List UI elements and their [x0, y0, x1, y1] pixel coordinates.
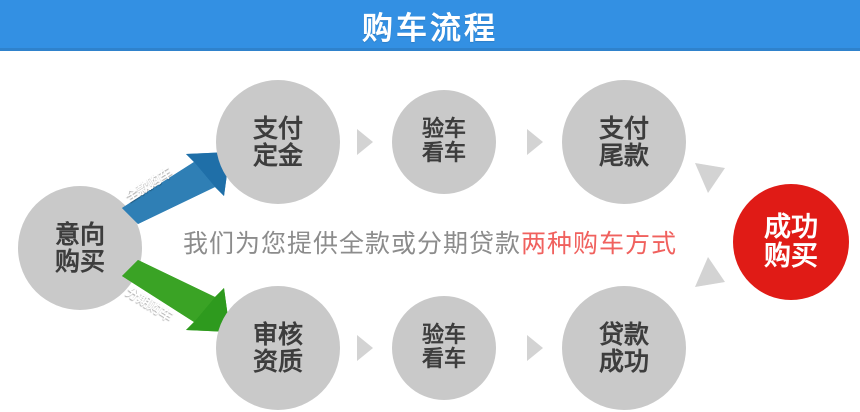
flow-node-full-step-3-line2: 尾款	[599, 142, 649, 169]
center-caption-red-text: 两种购车方式	[521, 229, 677, 258]
flow-node-installment-step-2-line2: 看车	[422, 348, 466, 372]
flow-node-installment-step-1: 审核 资质	[216, 286, 340, 410]
triangle-down-right-icon	[694, 162, 728, 196]
flow-node-installment-step-3-line2: 成功	[599, 348, 649, 375]
page-title: 购车流程	[0, 0, 860, 51]
connector-triangle-top-2	[527, 129, 543, 155]
arrow-down-right-icon	[120, 260, 232, 334]
connector-triangle-merge-bottom	[694, 256, 728, 290]
flow-node-installment-step-1-line2: 资质	[253, 348, 303, 375]
connector-triangle-bottom-2	[527, 335, 543, 361]
branch-arrow-installment: 分期购车	[120, 260, 232, 334]
flow-node-installment-step-3: 贷款 成功	[562, 286, 686, 410]
center-caption-grey-text: 我们为您提供全款或分期贷款	[183, 229, 521, 258]
purchase-flow-infographic: 购车流程 意向 购买 全款购车 分期购车	[0, 0, 860, 412]
flow-node-full-step-3-line1: 支付	[599, 115, 649, 142]
connector-triangle-bottom-1	[357, 335, 373, 361]
connector-triangle-merge-top	[694, 162, 728, 196]
flow-node-installment-step-1-line1: 审核	[253, 321, 303, 348]
flow-node-full-step-3: 支付 尾款	[562, 80, 686, 204]
flow-node-installment-step-2: 验车 看车	[392, 296, 496, 400]
flow-node-full-step-1-line1: 支付	[253, 115, 303, 142]
flow-node-full-step-2: 验车 看车	[392, 90, 496, 194]
flow-node-installment-step-3-line1: 贷款	[599, 321, 649, 348]
center-caption: 我们为您提供全款或分期贷款两种购车方式	[0, 224, 860, 260]
flow-node-installment-step-2-line1: 验车	[422, 324, 466, 348]
flow-diagram: 意向 购买 全款购车 分期购车 支付 定金	[0, 54, 860, 412]
branch-arrow-full-payment: 全款购车	[120, 152, 232, 226]
flow-node-full-step-2-line2: 看车	[422, 142, 466, 166]
flow-node-full-step-1-line2: 定金	[253, 142, 303, 169]
flow-node-full-step-2-line1: 验车	[422, 118, 466, 142]
triangle-up-right-icon	[694, 256, 728, 290]
connector-triangle-top-1	[357, 129, 373, 155]
flow-node-full-step-1: 支付 定金	[216, 80, 340, 204]
arrow-up-right-icon	[120, 152, 232, 226]
